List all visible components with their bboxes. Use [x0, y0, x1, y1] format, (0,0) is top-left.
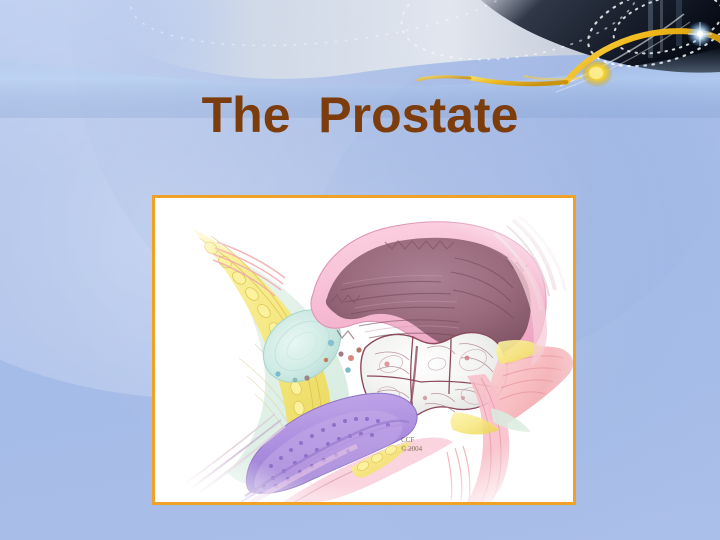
prostate-anatomy-illustration — [155, 198, 573, 502]
slide-title: The Prostate — [0, 88, 720, 142]
illustration-frame[interactable]: CCF © 2004 — [152, 195, 576, 505]
presentation-slide: The Prostate — [0, 0, 720, 540]
